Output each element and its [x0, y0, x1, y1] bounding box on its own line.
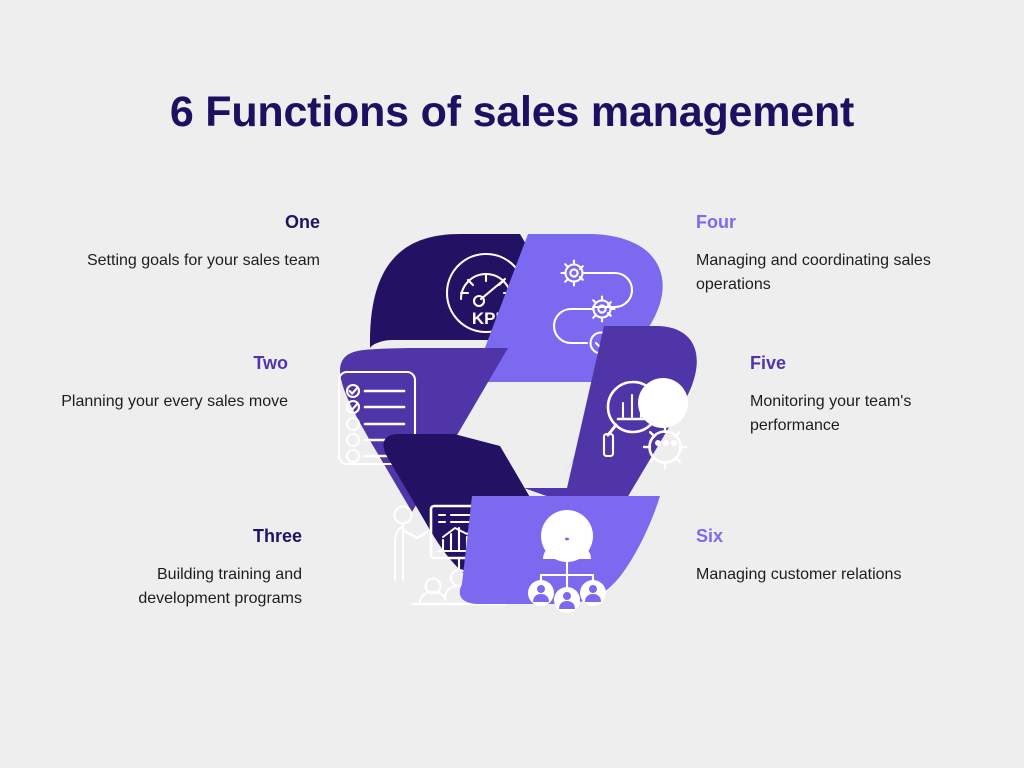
segment-description-two: Planning your every sales move: [48, 390, 288, 414]
segment-number-four: Four: [696, 212, 936, 234]
segment-text-one: One Setting goals for your sales team: [80, 212, 320, 273]
segment-description-six: Managing customer relations: [696, 563, 936, 587]
segment-description-four: Managing and coordinating sales operatio…: [696, 249, 936, 297]
customer-node-left: [528, 580, 554, 606]
hexagon-cycle-diagram: KPI: [312, 222, 716, 616]
segment-number-one: One: [80, 212, 320, 234]
segment-description-three: Building training and development progra…: [62, 563, 302, 611]
customer-node-right: [580, 580, 606, 606]
segment-number-six: Six: [696, 526, 936, 548]
segment-description-five: Monitoring your team's performance: [750, 390, 990, 438]
segment-description-one: Setting goals for your sales team: [80, 249, 320, 273]
cycle-segment-six[interactable]: [460, 496, 660, 613]
segment-number-three: Three: [62, 526, 302, 548]
segment-text-five: Five Monitoring your team's performance: [750, 353, 990, 438]
page-title: 6 Functions of sales management: [0, 88, 1024, 137]
customer-node-center: [554, 587, 580, 613]
segment-text-two: Two Planning your every sales move: [48, 353, 288, 414]
segment-text-three: Three Building training and development …: [62, 526, 302, 611]
segment-text-six: Six Managing customer relations: [696, 526, 936, 587]
segment-number-five: Five: [750, 353, 990, 375]
segment-text-four: Four Managing and coordinating sales ope…: [696, 212, 936, 297]
slide-canvas: 6 Functions of sales management One Sett…: [0, 0, 1024, 768]
segment-number-two: Two: [48, 353, 288, 375]
